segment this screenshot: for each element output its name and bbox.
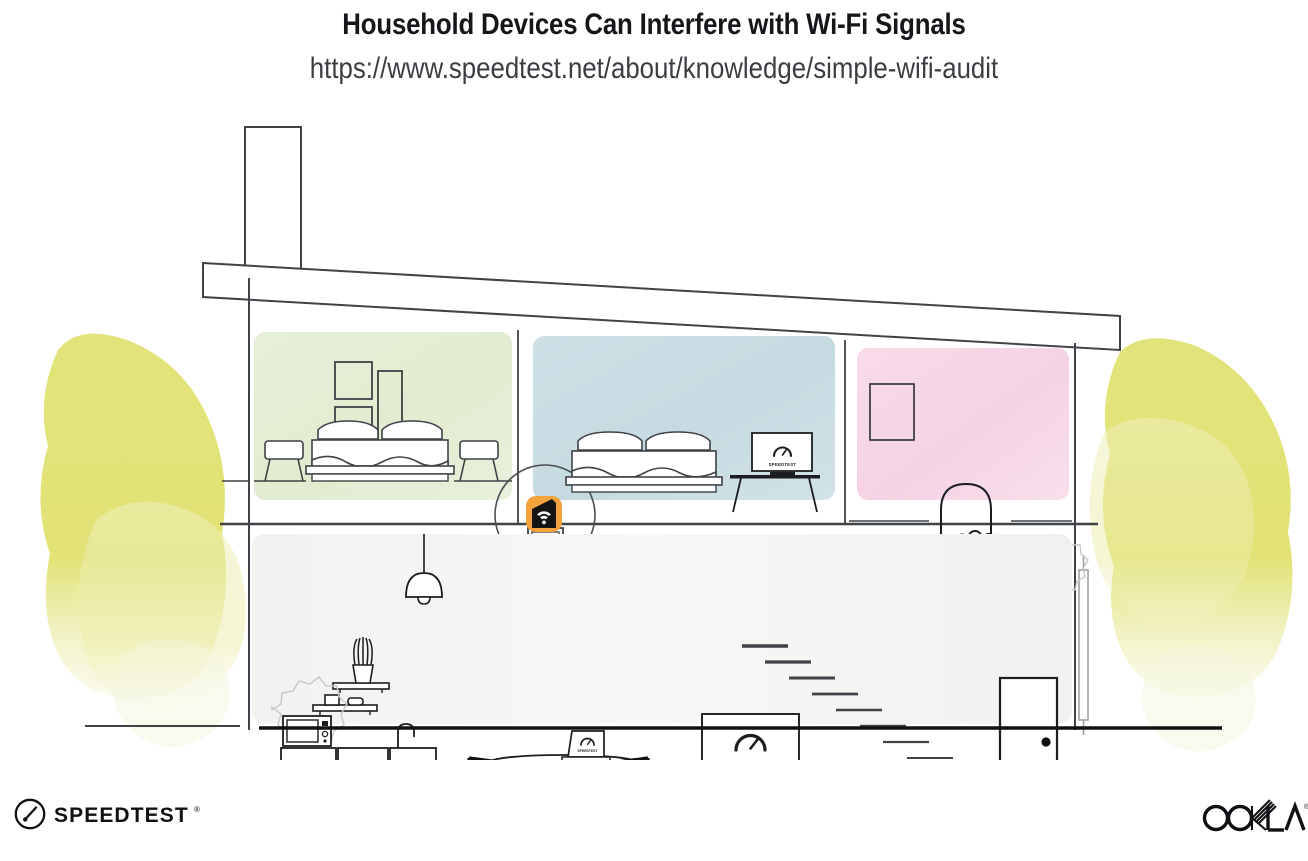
tv-living-room: SPEEDTEST [702, 714, 799, 760]
page-url: https://www.speedtest.net/about/knowledg… [92, 52, 1217, 86]
right-exterior-wall [1075, 343, 1088, 735]
ookla-a-icon [1286, 806, 1304, 830]
ookla-o2-icon [1229, 807, 1252, 830]
infographic-page: Household Devices Can Interfere with Wi-… [0, 0, 1308, 861]
tv-stand [770, 472, 795, 476]
speedtest-gauge-icon [16, 800, 44, 828]
tree-right [1090, 338, 1293, 751]
laptop[interactable]: SPEEDTEST [562, 731, 610, 760]
wifi-router[interactable] [526, 496, 562, 532]
tv-monitor-desk: SPEEDTEST [752, 433, 812, 476]
chimney [245, 127, 301, 279]
ookla-k-icon [1252, 800, 1276, 830]
tree-left [40, 334, 245, 747]
page-title: Household Devices Can Interfere with Wi-… [92, 8, 1217, 42]
sidelight-window [1079, 570, 1088, 720]
ookla-trademark: ® [1304, 803, 1308, 811]
ground-line [85, 726, 1222, 728]
ground-floor-open-plan: SPEEDTEST [252, 534, 1072, 760]
ookla-o1-icon [1205, 807, 1228, 830]
bedroom-green [222, 332, 512, 500]
microwave [283, 716, 331, 746]
pillow-left [578, 432, 642, 450]
pillow-left [318, 421, 378, 439]
speedtest-wordmark: SPEEDTEST [54, 804, 189, 827]
speedtest-trademark: ® [194, 805, 200, 814]
tv-screen-label: SPEEDTEST [769, 462, 797, 467]
laptop-screen-label: SPEEDTEST [577, 749, 598, 753]
house-cutaway-illustration: SPEEDTEST [0, 100, 1308, 760]
scene-svg: SPEEDTEST [0, 100, 1308, 760]
ookla-logo[interactable]: ® [1200, 796, 1308, 836]
footer: SPEEDTEST ® ® [0, 780, 1308, 861]
pillow-right [382, 421, 442, 439]
speedtest-logo[interactable]: SPEEDTEST ® [12, 794, 212, 834]
pillow-right [646, 432, 710, 450]
kitchen-counter [281, 748, 436, 760]
door-knob[interactable] [1041, 737, 1050, 746]
